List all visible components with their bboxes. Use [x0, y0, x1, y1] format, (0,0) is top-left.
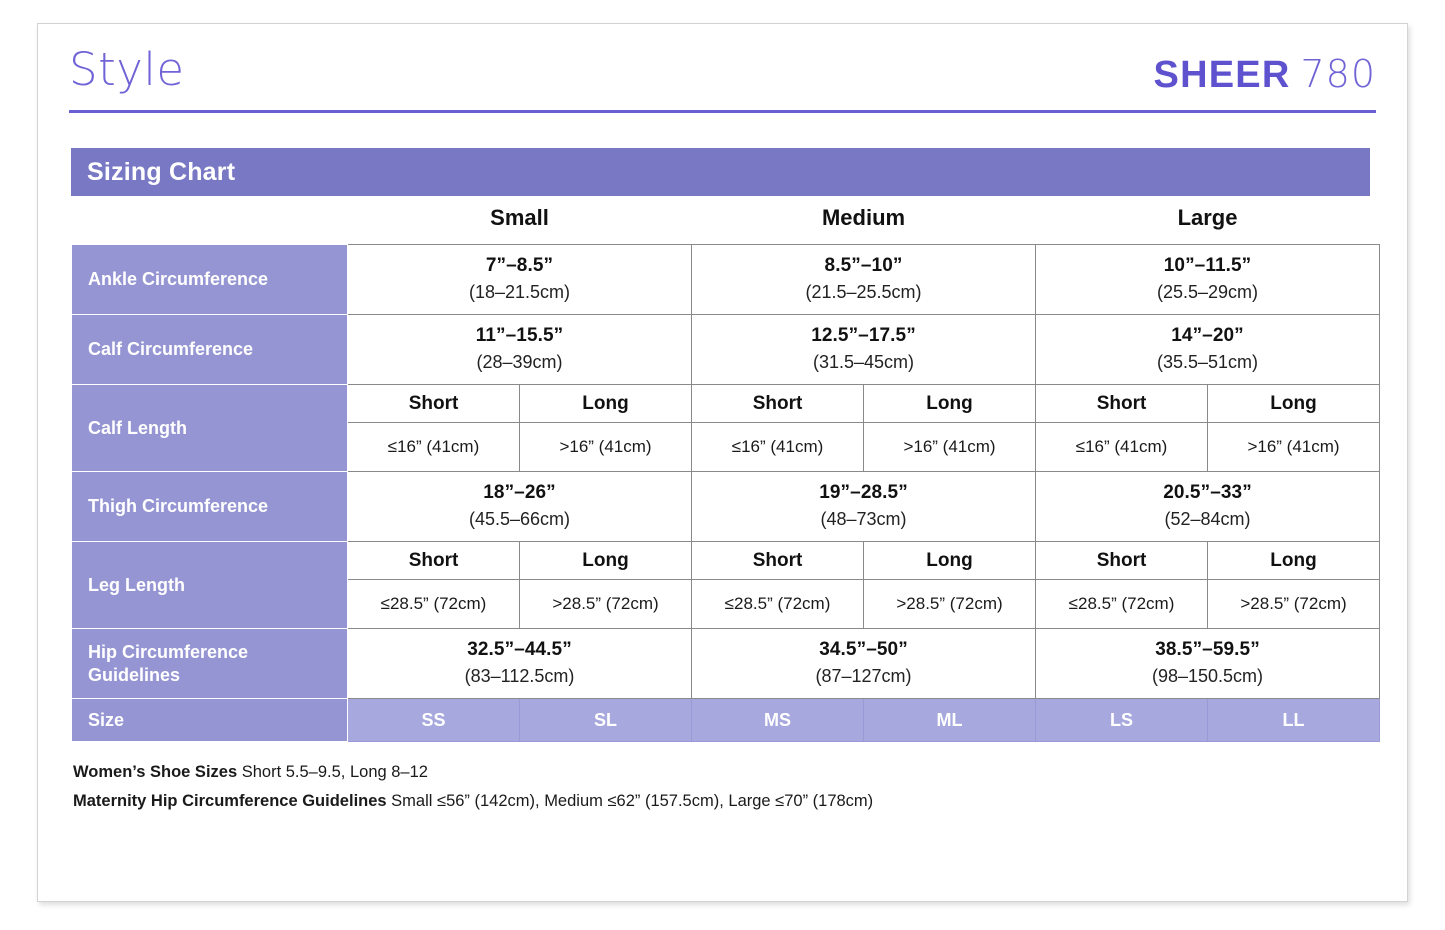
row-label-leg-length: Leg Length — [72, 542, 348, 629]
table-row: Calf Length Short Long Short Long Short … — [72, 385, 1380, 423]
value-cm: (83–112.5cm) — [352, 665, 687, 688]
sizing-chart-titlebar: Sizing Chart — [71, 148, 1370, 196]
value-cm: (31.5–45cm) — [696, 351, 1031, 374]
value-inches: 34.5”–50” — [696, 638, 1031, 663]
row-label-thigh-circumference: Thigh Circumference — [72, 472, 348, 542]
cell-leg-length-ll: >28.5” (72cm) — [1208, 580, 1380, 629]
subheader-calf-large-short: Short — [1036, 385, 1208, 423]
size-code-ls: LS — [1036, 699, 1208, 742]
value-inches: 7”–8.5” — [352, 254, 687, 279]
cell-calf-length-ls: ≤16” (41cm) — [1036, 423, 1208, 472]
size-group-medium: Medium — [692, 196, 1036, 245]
value-inches: 11”–15.5” — [352, 324, 687, 349]
cell-leg-length-sl: >28.5” (72cm) — [520, 580, 692, 629]
table-row: Size SS SL MS ML LS LL — [72, 699, 1380, 742]
value-inches: 8.5”–10” — [696, 254, 1031, 279]
subheader-leg-large-long: Long — [1208, 542, 1380, 580]
cell-calf-length-ms: ≤16” (41cm) — [692, 423, 864, 472]
value-cm: (98–150.5cm) — [1040, 665, 1375, 688]
row-label-ankle-circumference: Ankle Circumference — [72, 245, 348, 315]
cell-hip-large: 38.5”–59.5” (98–150.5cm) — [1036, 629, 1380, 699]
footnote-shoe-sizes-label: Women’s Shoe Sizes — [73, 763, 237, 781]
value-cm: (48–73cm) — [696, 508, 1031, 531]
table-row: Ankle Circumference 7”–8.5” (18–21.5cm) … — [72, 245, 1380, 315]
table-row: Leg Length Short Long Short Long Short L… — [72, 542, 1380, 580]
size-group-header-row: Small Medium Large — [72, 196, 1380, 245]
table-row: Calf Circumference 11”–15.5” (28–39cm) 1… — [72, 315, 1380, 385]
value-inches: 32.5”–44.5” — [352, 638, 687, 663]
subheader-calf-medium-long: Long — [864, 385, 1036, 423]
cell-thigh-medium: 19”–28.5” (48–73cm) — [692, 472, 1036, 542]
subheader-calf-large-long: Long — [1208, 385, 1380, 423]
footnote-maternity-hip-value: Small ≤56” (142cm), Medium ≤62” (157.5cm… — [387, 792, 874, 810]
size-code-sl: SL — [520, 699, 692, 742]
subheader-leg-medium-long: Long — [864, 542, 1036, 580]
value-inches: 10”–11.5” — [1040, 254, 1375, 279]
size-code-ll: LL — [1208, 699, 1380, 742]
spacer-cell — [72, 196, 348, 245]
value-cm: (52–84cm) — [1040, 508, 1375, 531]
brand-block: SHEER780 — [1154, 52, 1376, 97]
cell-leg-length-ms: ≤28.5” (72cm) — [692, 580, 864, 629]
size-code-ms: MS — [692, 699, 864, 742]
subheader-leg-small-long: Long — [520, 542, 692, 580]
brand-name: SHEER — [1154, 54, 1291, 96]
subheader-leg-large-short: Short — [1036, 542, 1208, 580]
value-cm: (18–21.5cm) — [352, 281, 687, 304]
cell-thigh-large: 20.5”–33” (52–84cm) — [1036, 472, 1380, 542]
cell-calf-length-ll: >16” (41cm) — [1208, 423, 1380, 472]
cell-calf-circ-medium: 12.5”–17.5” (31.5–45cm) — [692, 315, 1036, 385]
footnote-shoe-sizes: Women’s Shoe Sizes Short 5.5–9.5, Long 8… — [73, 758, 1370, 786]
row-label-calf-circumference: Calf Circumference — [72, 315, 348, 385]
cell-calf-circ-large: 14”–20” (35.5–51cm) — [1036, 315, 1380, 385]
cell-ankle-small: 7”–8.5” (18–21.5cm) — [348, 245, 692, 315]
value-inches: 20.5”–33” — [1040, 481, 1375, 506]
value-cm: (25.5–29cm) — [1040, 281, 1375, 304]
row-label-size: Size — [72, 699, 348, 742]
value-cm: (35.5–51cm) — [1040, 351, 1375, 374]
document-page: Style SHEER780 Sizing Chart Small Medium… — [37, 23, 1408, 902]
subheader-calf-small-short: Short — [348, 385, 520, 423]
cell-calf-circ-small: 11”–15.5” (28–39cm) — [348, 315, 692, 385]
subheader-calf-small-long: Long — [520, 385, 692, 423]
size-group-large: Large — [1036, 196, 1380, 245]
value-inches: 12.5”–17.5” — [696, 324, 1031, 349]
cell-leg-length-ss: ≤28.5” (72cm) — [348, 580, 520, 629]
sizing-chart-table: Small Medium Large Ankle Circumference 7… — [71, 196, 1380, 742]
table-row: Thigh Circumference 18”–26” (45.5–66cm) … — [72, 472, 1380, 542]
subheader-leg-small-short: Short — [348, 542, 520, 580]
product-number: 780 — [1300, 52, 1376, 96]
cell-calf-length-sl: >16” (41cm) — [520, 423, 692, 472]
row-label-calf-length: Calf Length — [72, 385, 348, 472]
cell-hip-small: 32.5”–44.5” (83–112.5cm) — [348, 629, 692, 699]
cell-calf-length-ss: ≤16” (41cm) — [348, 423, 520, 472]
row-label-line-1: Hip Circumference — [88, 642, 248, 662]
cell-thigh-small: 18”–26” (45.5–66cm) — [348, 472, 692, 542]
footnote-maternity-hip: Maternity Hip Circumference Guidelines S… — [73, 787, 1370, 815]
cell-ankle-large: 10”–11.5” (25.5–29cm) — [1036, 245, 1380, 315]
value-inches: 14”–20” — [1040, 324, 1375, 349]
cell-hip-medium: 34.5”–50” (87–127cm) — [692, 629, 1036, 699]
page-header: Style SHEER780 — [69, 24, 1376, 113]
size-group-small: Small — [348, 196, 692, 245]
value-cm: (45.5–66cm) — [352, 508, 687, 531]
size-code-ml: ML — [864, 699, 1036, 742]
value-cm: (87–127cm) — [696, 665, 1031, 688]
table-row: Hip Circumference Guidelines 32.5”–44.5”… — [72, 629, 1380, 699]
footnote-maternity-hip-label: Maternity Hip Circumference Guidelines — [73, 792, 387, 810]
row-label-line-2: Guidelines — [88, 665, 180, 685]
cell-calf-length-ml: >16” (41cm) — [864, 423, 1036, 472]
footnote-shoe-sizes-value: Short 5.5–9.5, Long 8–12 — [237, 763, 428, 781]
value-inches: 38.5”–59.5” — [1040, 638, 1375, 663]
value-cm: (21.5–25.5cm) — [696, 281, 1031, 304]
cell-leg-length-ml: >28.5” (72cm) — [864, 580, 1036, 629]
value-cm: (28–39cm) — [352, 351, 687, 374]
footnotes: Women’s Shoe Sizes Short 5.5–9.5, Long 8… — [73, 758, 1370, 815]
size-code-ss: SS — [348, 699, 520, 742]
cell-ankle-medium: 8.5”–10” (21.5–25.5cm) — [692, 245, 1036, 315]
page-title: Style — [69, 43, 185, 96]
subheader-calf-medium-short: Short — [692, 385, 864, 423]
value-inches: 18”–26” — [352, 481, 687, 506]
cell-leg-length-ls: ≤28.5” (72cm) — [1036, 580, 1208, 629]
subheader-leg-medium-short: Short — [692, 542, 864, 580]
sizing-chart-title: Sizing Chart — [71, 158, 235, 187]
value-inches: 19”–28.5” — [696, 481, 1031, 506]
row-label-hip-circumference-guidelines: Hip Circumference Guidelines — [72, 629, 348, 699]
